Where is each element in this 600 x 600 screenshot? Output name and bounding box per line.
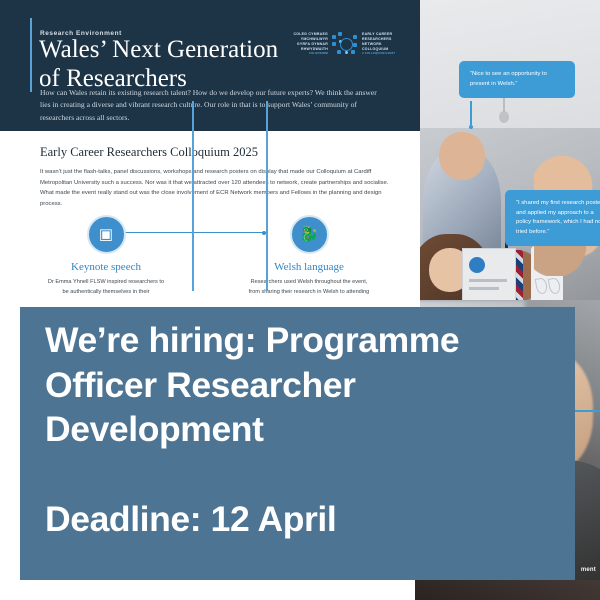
vertical-rule-left (192, 101, 194, 291)
logo-welsh-tag: COLOCWIWM (289, 52, 328, 56)
logo-welsh-name: COLEG CYMRAEG YMCHWILWYR GYRFA GYNNAR RH… (293, 32, 328, 51)
accent-rule (30, 18, 32, 92)
network-node-logo-mark (332, 32, 358, 56)
quote-bubble-welsh: “Nice to see an opportunity to present i… (459, 61, 575, 98)
feature-body-welsh: Researchers used Welsh throughout the ev… (234, 278, 384, 298)
feature-title-keynote: Keynote speech (31, 261, 181, 273)
welsh-dragon-icon: 🐉 (290, 215, 329, 254)
deadline-text: Deadline: 12 April (45, 499, 336, 540)
logo-english-name: EARLY CAREER RESEARCHERS NETWORK COLLOQU… (362, 32, 392, 51)
quote-bubble-tail (470, 101, 472, 125)
podium-speaker-icon: ▣ (87, 215, 126, 254)
article-card: Early Career Researchers Colloquium 2025… (0, 131, 420, 310)
hiring-heading: We’re hiring: Programme Officer Research… (45, 318, 570, 452)
section-body: It wasn’t just the flash-talks, panel di… (40, 167, 395, 209)
header-card: Research Environment Wales’ Next Generat… (0, 0, 420, 131)
intro-paragraph: How can Wales retain its existing resear… (40, 87, 385, 124)
feature-column-keynote: ▣ Keynote speech Dr Emma Yhnell FLSW ins… (31, 215, 181, 298)
ceiling-lamp-icon (503, 98, 505, 112)
cropped-caption-fragment: ment (581, 567, 596, 573)
hiring-overlay-panel: We’re hiring: Programme Officer Research… (20, 307, 575, 580)
vertical-rule-right (266, 101, 268, 291)
ecr-network-logo: COLEG CYMRAEG YMCHWILWYR GYRFA GYNNAR RH… (289, 31, 401, 57)
logo-english-tag: A COLLOQUIUM EVENT (362, 52, 401, 56)
section-title: Early Career Researchers Colloquium 2025 (40, 145, 258, 160)
feature-column-welsh: 🐉 Welsh language Researchers used Welsh … (234, 215, 384, 298)
feature-title-welsh: Welsh language (234, 261, 384, 273)
poster-canvas: Research Environment Wales’ Next Generat… (0, 0, 600, 600)
logo-welsh-text: COLEG CYMRAEG YMCHWILWYR GYRFA GYNNAR RH… (289, 27, 328, 60)
quote-bubble-poster: “I shared my first research poster, and … (505, 190, 600, 246)
feature-body-keynote: Dr Emma Yhnell FLSW inspired researchers… (31, 278, 181, 298)
logo-english-text: EARLY CAREER RESEARCHERS NETWORK COLLOQU… (362, 27, 401, 60)
